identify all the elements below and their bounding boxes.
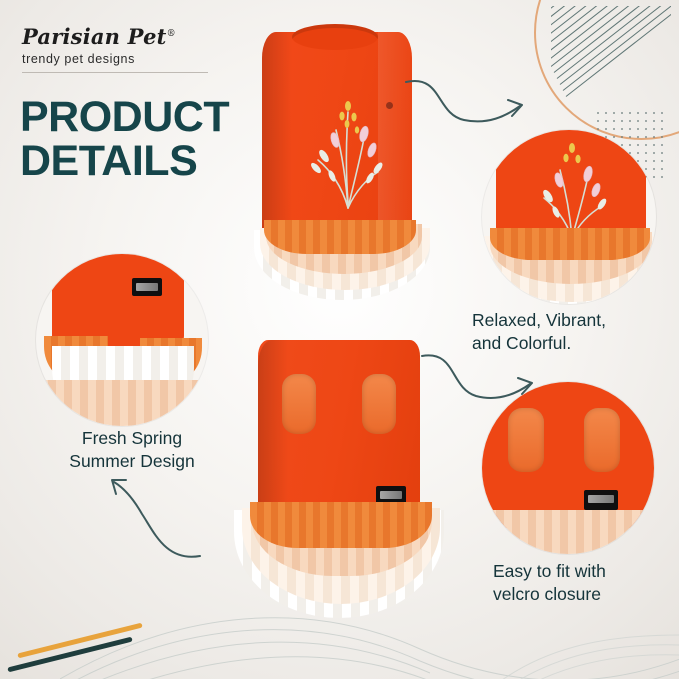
dress-bodice-front — [262, 32, 412, 242]
main-product-front-image — [238, 18, 466, 318]
callout-fresh-line-2: Summer Design — [42, 450, 222, 473]
inset-embroidery-closeup — [482, 130, 656, 304]
callout-velcro: Easy to fit with velcro closure — [493, 560, 678, 606]
inset-br-skirt — [482, 510, 654, 554]
skirt-layer-orange — [264, 220, 416, 254]
inset-velcro-closeup — [482, 382, 654, 554]
brand-block: Parisian Pet® trendy pet designs — [22, 24, 242, 73]
product-details-infographic: Parisian Pet® trendy pet designs PRODUCT… — [0, 0, 679, 679]
registered-mark: ® — [167, 29, 176, 39]
callout-fresh-spring: Fresh Spring Summer Design — [42, 427, 222, 473]
dress-bodice-back — [258, 340, 420, 520]
callout-relaxed: Relaxed, Vibrant, and Colorful. — [472, 309, 672, 355]
callout-relaxed-line-1: Relaxed, Vibrant, — [472, 309, 672, 332]
brand-name-text: Parisian Pet — [22, 24, 167, 49]
inset-floral-embroidery — [528, 140, 614, 240]
brand-name: Parisian Pet® — [22, 24, 242, 49]
back-skirt-orange — [250, 502, 432, 548]
brand-tagline: trendy pet designs — [22, 52, 242, 66]
inset-br-sleeve-right — [584, 408, 620, 472]
floral-embroidery — [302, 90, 388, 210]
bodice-shadow — [262, 32, 292, 242]
brand-divider — [22, 72, 208, 73]
arrow-bottom — [96, 470, 206, 565]
hatch-lines-decoration — [551, 6, 671, 102]
callout-fresh-line-1: Fresh Spring — [42, 427, 222, 450]
inset-br-brand-tag — [584, 490, 618, 510]
bodice-button — [386, 102, 393, 109]
inset-sleeve-closeup — [36, 254, 208, 426]
sleeve-right — [362, 374, 396, 434]
inset-left-skirt-peach — [40, 380, 204, 426]
back-bodice-shadow — [258, 340, 288, 520]
inset-left-brand-tag — [132, 278, 162, 296]
inset-skirt-orange — [490, 228, 650, 260]
callout-velcro-line-1: Easy to fit with — [493, 560, 678, 583]
callout-relaxed-line-2: and Colorful. — [472, 332, 672, 355]
main-product-back-image — [228, 330, 478, 660]
callout-velcro-line-2: velcro closure — [493, 583, 678, 606]
sleeve-left — [282, 374, 316, 434]
inset-br-sleeve-left — [508, 408, 544, 472]
